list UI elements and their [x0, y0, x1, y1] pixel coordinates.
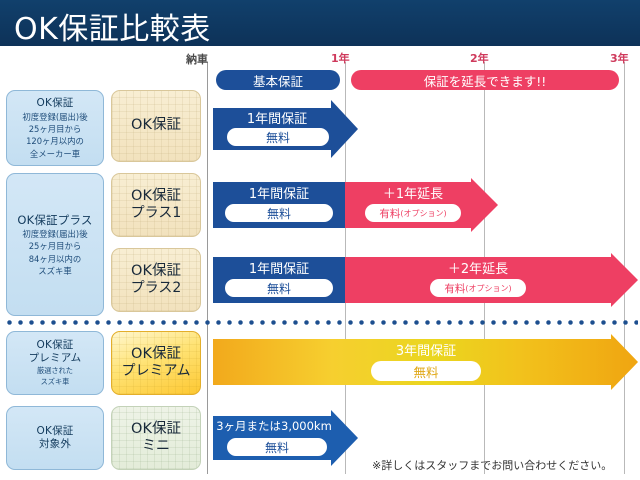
plan-box-ok-hosho-plus2: OK保証 プラス2: [111, 248, 201, 312]
category-title-line2: 対象外: [39, 438, 71, 451]
category-sub-line: 初度登録(届出)後: [22, 112, 87, 122]
page-title: OK保証比較表: [14, 4, 211, 48]
category-box-ok-hosho-premium: OK保証 プレミアム 厳選された スズキ車: [6, 331, 104, 395]
badge-free: 無料: [227, 128, 329, 146]
category-title: OK保証: [37, 339, 74, 352]
warranty-comparison-page: OK保証比較表 納車 1年 2年 3年 基本保証 保証を延長できます!! OK保…: [0, 0, 640, 480]
plan-name-line1: OK保証: [131, 346, 181, 363]
bar-label-extension: ＋2年延長: [418, 258, 538, 277]
category-sub-line: スズキ車: [41, 378, 70, 387]
bar-label: 1年間保証: [217, 183, 341, 202]
plan-name-line1: OK保証: [131, 188, 181, 205]
plan-name-line1: OK保証: [131, 263, 181, 280]
plan-box-ok-hosho-mini: OK保証 ミニ: [111, 406, 201, 470]
badge-paid-text: 有料: [444, 281, 465, 296]
banner-basic-warranty: 基本保証: [216, 70, 340, 90]
plan-name-line2: ミニ: [142, 438, 170, 455]
plan-name-line1: OK保証: [131, 117, 181, 134]
category-sub-line: 120ヶ月以内の: [26, 136, 84, 146]
badge-free: 無料: [371, 361, 481, 381]
category-box-ok-hosho-excluded: OK保証 対象外: [6, 406, 104, 470]
bar-row-ok-hosho: 1年間保証 無料: [213, 100, 358, 158]
plan-box-ok-hosho-premium: OK保証 プレミアム: [111, 331, 201, 395]
category-box-ok-hosho: OK保証 初度登録(届出)後 25ヶ月目から 120ヶ月以内の 全メーカー車: [6, 90, 104, 166]
plan-name-line1: OK保証: [131, 421, 181, 438]
plan-name-line2: プラス2: [131, 280, 182, 297]
footnote-contact-staff: ※詳しくはスタッフまでお問い合わせください。: [372, 457, 612, 473]
row-group-divider: [4, 320, 638, 325]
category-sub-line: 厳選された: [37, 367, 73, 376]
category-box-ok-hosho-plus: OK保証プラス 初度登録(届出)後 25ヶ月目から 84ヶ月以内の スズキ車: [6, 173, 104, 316]
category-sub-line: 25ヶ月目から: [29, 241, 82, 251]
category-title: OK保証: [37, 425, 74, 438]
bar-row-ok-hosho-premium: 3年間保証 無料: [213, 334, 638, 390]
bar-label: 3ヶ月または3,000km: [215, 418, 333, 434]
badge-free: 無料: [225, 204, 333, 222]
category-title-line2: プレミアム: [29, 352, 82, 365]
banner-extendable: 保証を延長できます!!: [351, 70, 619, 90]
plan-name-line2: プラス1: [131, 205, 182, 222]
axis-label-delivery: 納車: [186, 51, 208, 67]
page-header: OK保証比較表: [0, 0, 640, 46]
gridline-delivery: [207, 62, 208, 474]
category-sub-line: スズキ車: [38, 266, 72, 276]
axis-label-year-1: 1年: [331, 50, 350, 66]
badge-paid-text: 有料: [379, 206, 400, 221]
badge-free: 無料: [227, 438, 327, 456]
badge-paid-option: 有料(オプション): [365, 204, 461, 222]
plan-name-line2: プレミアム: [121, 363, 190, 380]
bar-row-ok-hosho-mini: 3ヶ月または3,000km 無料: [213, 410, 358, 466]
category-sub-line: 84ヶ月以内の: [29, 254, 82, 264]
category-title: OK保証プラス: [17, 213, 92, 227]
category-title: OK保証: [37, 97, 74, 110]
axis-label-year-2: 2年: [470, 50, 489, 66]
axis-label-year-3: 3年: [610, 50, 629, 66]
bar-label-extension: ＋1年延長: [353, 183, 473, 202]
badge-paid-option: 有料(オプション): [430, 279, 526, 297]
bar-row-ok-hosho-plus1: 1年間保証 無料 ＋1年延長 有料(オプション): [213, 178, 498, 232]
bar-label: 1年間保証: [217, 258, 341, 277]
badge-free: 無料: [225, 279, 333, 297]
category-sub-line: 初度登録(届出)後: [22, 229, 87, 239]
plan-box-ok-hosho: OK保証: [111, 90, 201, 162]
bar-row-ok-hosho-plus2: 1年間保証 無料 ＋2年延長 有料(オプション): [213, 253, 638, 307]
category-sub-line: 全メーカー車: [30, 149, 80, 159]
bar-label: 1年間保証: [221, 108, 333, 127]
badge-option-note: (オプション): [400, 208, 446, 219]
plan-box-ok-hosho-plus1: OK保証 プラス1: [111, 173, 201, 237]
bar-label: 3年間保証: [358, 340, 494, 359]
category-sub-line: 25ヶ月目から: [29, 124, 82, 134]
badge-option-note: (オプション): [465, 283, 511, 294]
